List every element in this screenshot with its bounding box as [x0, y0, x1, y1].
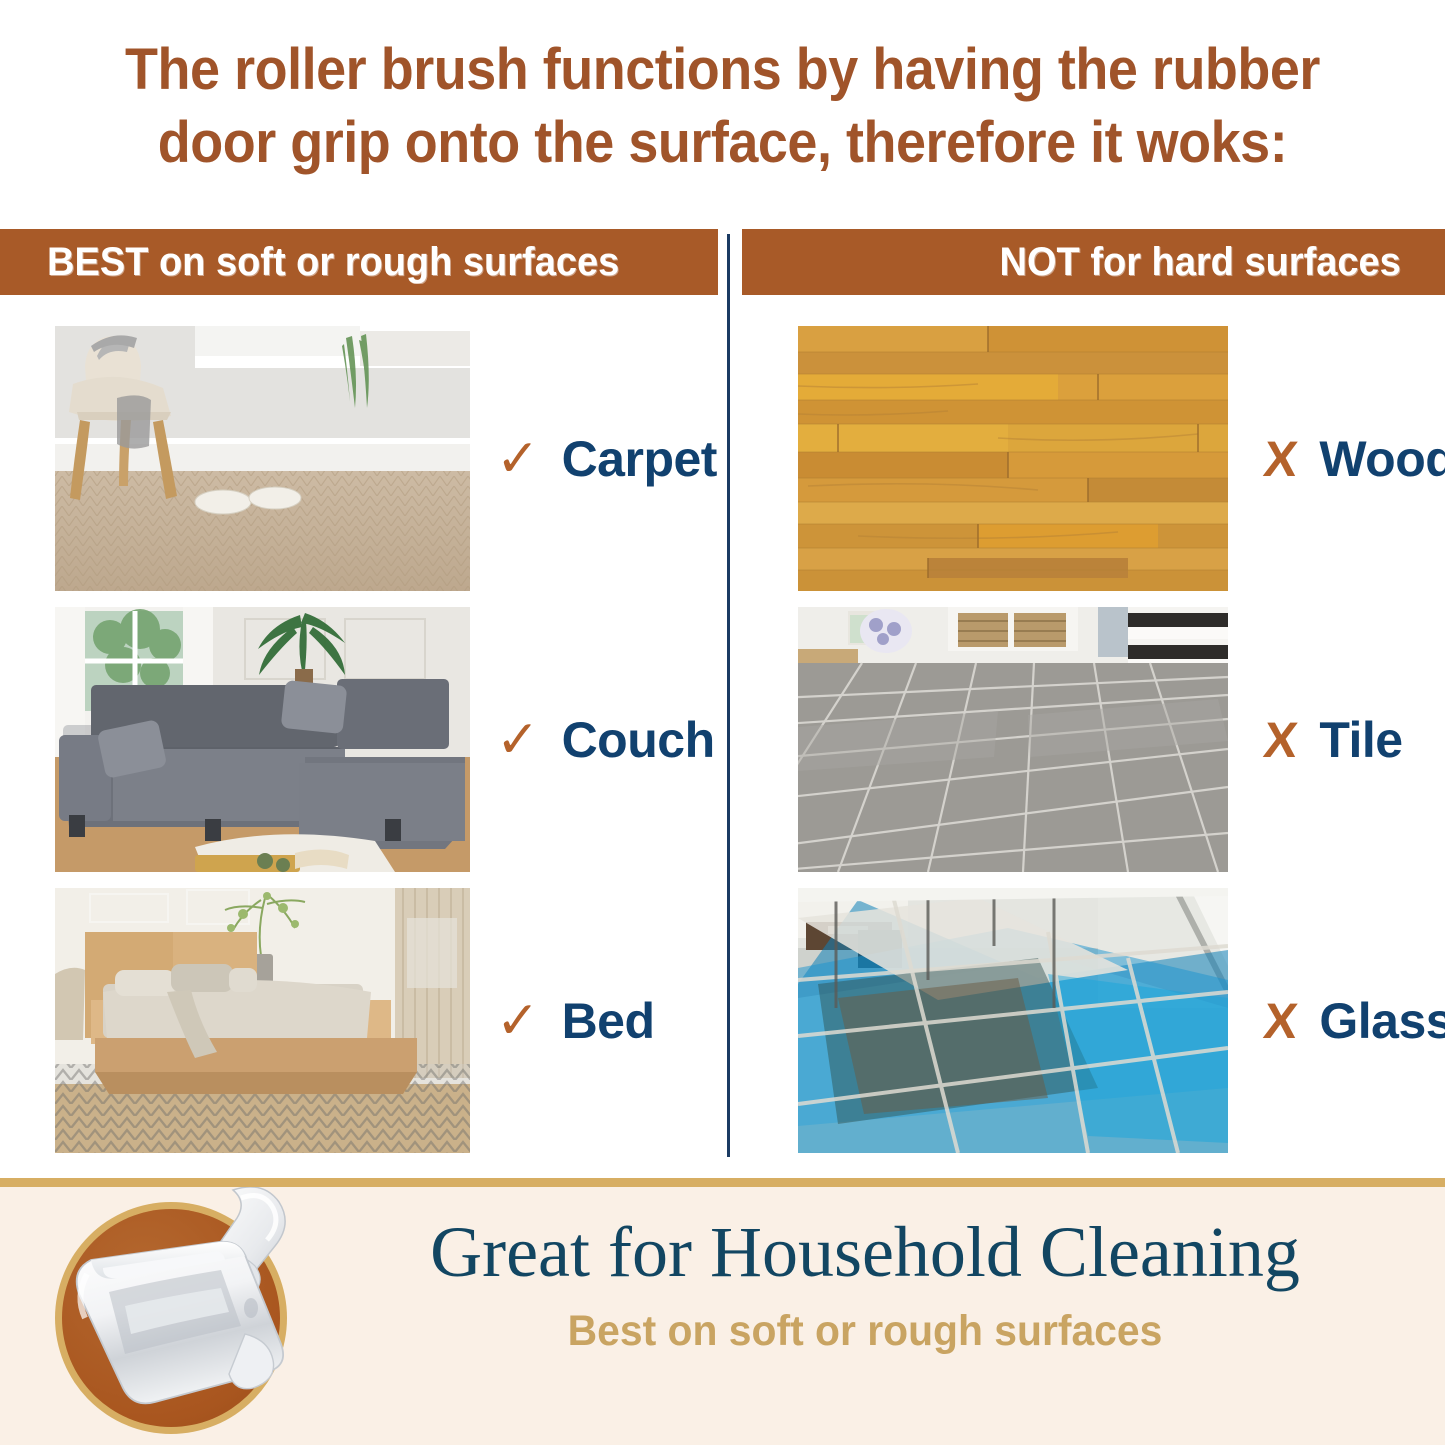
footer-title: Great for Household Cleaning: [300, 1215, 1430, 1291]
cross-icon: X: [1261, 992, 1300, 1050]
tile-photo: [798, 607, 1228, 872]
glass-label: X Glass: [1264, 992, 1445, 1050]
list-item: ✓ Couch: [0, 599, 727, 880]
column-divider: [727, 234, 730, 1157]
not-surfaces-column: X Wood: [731, 318, 1445, 1161]
list-item: X Wood: [731, 318, 1445, 599]
cross-icon: X: [1261, 430, 1300, 488]
couch-photo: [55, 607, 470, 872]
check-icon: ✓: [496, 995, 540, 1047]
not-surfaces-banner: NOT for hard surfaces: [742, 229, 1445, 295]
list-item-label: Bed: [562, 992, 655, 1050]
headline-line-2: door grip onto the surface, therefore it…: [86, 107, 1359, 180]
check-icon: ✓: [496, 433, 540, 485]
wood-label: X Wood: [1264, 430, 1445, 488]
not-surfaces-banner-label: NOT for hard surfaces: [999, 240, 1400, 285]
list-item: ✓ Carpet: [0, 318, 727, 599]
best-surfaces-banner: BEST on soft or rough surfaces: [0, 229, 718, 295]
roller-badge: [55, 1202, 287, 1434]
list-item-label: Carpet: [562, 430, 717, 488]
page-headline: The roller brush functions by having the…: [0, 34, 1445, 179]
cross-icon: X: [1261, 711, 1300, 769]
check-icon: ✓: [496, 714, 540, 766]
carpet-label: ✓ Carpet: [496, 430, 717, 488]
list-item-label: Wood: [1319, 430, 1445, 488]
glass-photo: [798, 888, 1228, 1153]
footer-divider-rule: [0, 1178, 1445, 1187]
couch-label: ✓ Couch: [496, 711, 715, 769]
list-item: ✓ Bed: [0, 880, 727, 1161]
list-item-label: Glass: [1319, 992, 1445, 1050]
headline-line-1: The roller brush functions by having the…: [86, 34, 1359, 107]
best-surfaces-banner-label: BEST on soft or rough surfaces: [47, 240, 619, 285]
bed-label: ✓ Bed: [496, 992, 655, 1050]
best-surfaces-column: ✓ Carpet: [0, 318, 727, 1161]
footer-text-block: Great for Household Cleaning Best on sof…: [300, 1215, 1430, 1356]
list-item: X Tile: [731, 599, 1445, 880]
wood-photo: [798, 326, 1228, 591]
footer-banner: Great for Household Cleaning Best on sof…: [0, 1187, 1445, 1445]
footer-subtitle-text: Best on soft or rough surfaces: [568, 1307, 1163, 1356]
tile-label: X Tile: [1264, 711, 1403, 769]
list-item: X Glass: [731, 880, 1445, 1161]
bed-photo: [55, 888, 470, 1153]
carpet-photo: [55, 326, 470, 591]
footer-subtitle: Best on soft or rough surfaces: [300, 1307, 1430, 1356]
list-item-label: Couch: [562, 711, 715, 769]
list-item-label: Tile: [1319, 711, 1402, 769]
